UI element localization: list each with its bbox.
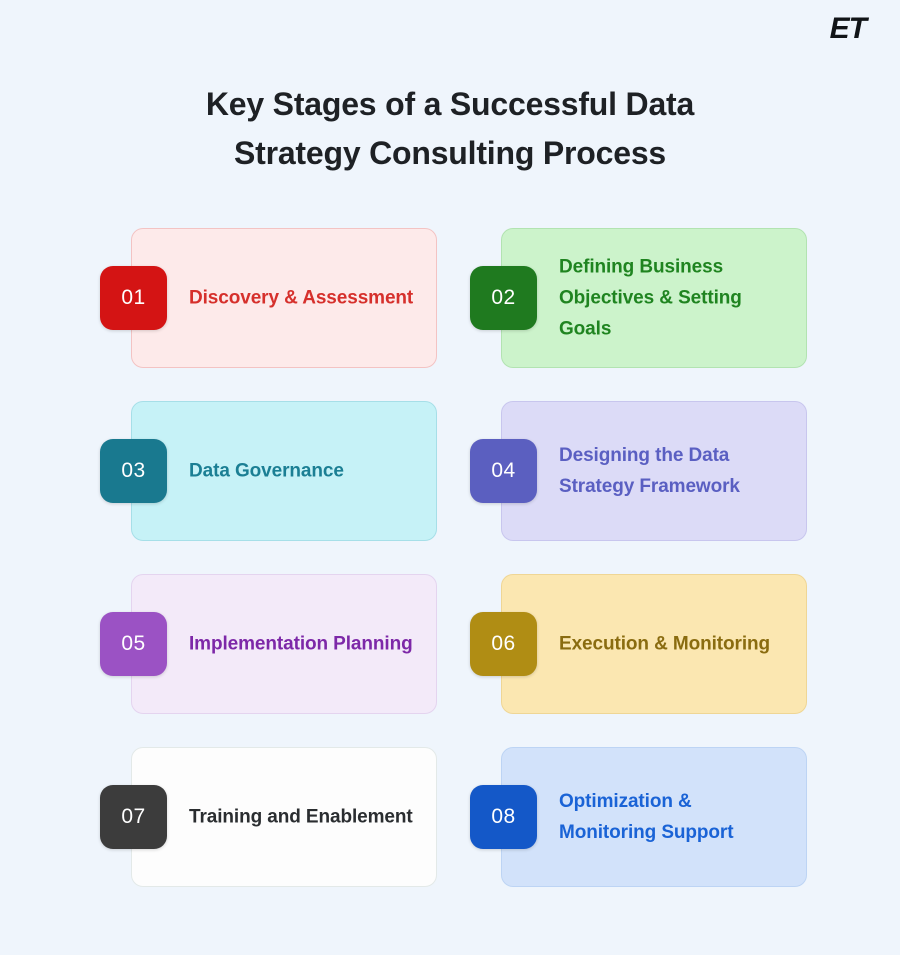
stage-number-badge: 06 <box>470 612 537 676</box>
stage-card-02[interactable]: 02 Defining Business Objectives & Settin… <box>501 228 807 368</box>
stage-label: Designing the Data Strategy Framework <box>559 440 788 502</box>
stage-number-badge: 07 <box>100 785 167 849</box>
stage-card-05[interactable]: 05 Implementation Planning <box>131 574 437 714</box>
stage-number-badge: 05 <box>100 612 167 676</box>
stage-card-08[interactable]: 08 Optimization & Monitoring Support <box>501 747 807 887</box>
page-title: Key Stages of a Successful Data Strategy… <box>150 80 750 178</box>
stage-card-03[interactable]: 03 Data Governance <box>131 401 437 541</box>
stage-card-01[interactable]: 01 Discovery & Assessment <box>131 228 437 368</box>
stage-number-badge: 01 <box>100 266 167 330</box>
stage-number-badge: 03 <box>100 439 167 503</box>
stage-card-06[interactable]: 06 Execution & Monitoring <box>501 574 807 714</box>
brand-logo: ET <box>830 14 866 44</box>
stage-label: Data Governance <box>189 456 418 487</box>
page-title-container: Key Stages of a Successful Data Strategy… <box>0 80 900 178</box>
stage-number-badge: 02 <box>470 266 537 330</box>
stage-grid: 01 Discovery & Assessment 02 Defining Bu… <box>131 228 803 887</box>
stage-number-badge: 04 <box>470 439 537 503</box>
stage-label: Training and Enablement <box>189 802 418 833</box>
stage-label: Defining Business Objectives & Setting G… <box>559 252 788 345</box>
stage-card-07[interactable]: 07 Training and Enablement <box>131 747 437 887</box>
stage-number-badge: 08 <box>470 785 537 849</box>
stage-label: Discovery & Assessment <box>189 283 418 314</box>
stage-label: Execution & Monitoring <box>559 629 788 660</box>
stage-label: Optimization & Monitoring Support <box>559 786 788 848</box>
stage-card-04[interactable]: 04 Designing the Data Strategy Framework <box>501 401 807 541</box>
stage-label: Implementation Planning <box>189 629 418 660</box>
